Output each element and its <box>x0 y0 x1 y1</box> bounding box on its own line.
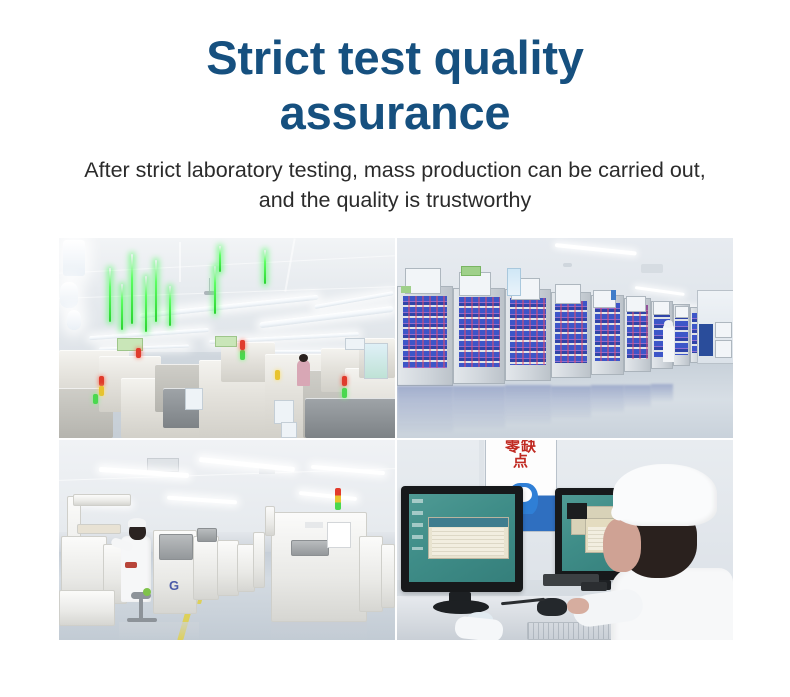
cabinet-label <box>461 266 481 276</box>
photo-inspection-station: 零缺点 <box>397 440 733 640</box>
monitor-left-screen <box>409 494 515 582</box>
laser-beam <box>155 260 157 322</box>
laser-beam <box>109 268 111 322</box>
blue-panel <box>699 324 713 356</box>
data-table-rows <box>432 528 504 555</box>
photo-battery-test-racks <box>397 238 733 438</box>
laser-beam <box>121 284 123 330</box>
laser-beam <box>214 266 216 314</box>
floor-reflection <box>119 622 199 640</box>
floor-reflection <box>651 384 673 401</box>
oven-window <box>291 540 329 556</box>
floor-reflection <box>397 386 453 432</box>
floor-reflection <box>624 385 651 407</box>
tray-connectors <box>459 297 500 367</box>
cabinet-display <box>675 306 689 318</box>
status-light-red <box>136 348 141 358</box>
ceiling-lamp <box>60 282 78 308</box>
machine-window <box>159 534 193 560</box>
cabinet-display <box>653 301 670 315</box>
status-light-yellow <box>99 386 104 396</box>
stool-lever <box>143 588 151 596</box>
tray-connectors <box>403 296 447 369</box>
desktop-icons <box>412 499 423 550</box>
floor-reflection <box>271 622 367 640</box>
photo-smt-line <box>59 238 395 438</box>
page-subtitle: After strict laboratory testing, mass pr… <box>65 155 725 216</box>
operator-arm <box>454 616 504 640</box>
machine <box>381 544 395 608</box>
tray-connectors <box>595 303 620 361</box>
floor-reflection <box>453 386 505 428</box>
laser-beam <box>264 250 266 284</box>
machine-post <box>265 506 275 536</box>
photo-cleanroom-operator: G <box>59 440 395 640</box>
ceiling-lamp <box>63 240 85 276</box>
stool-post <box>139 598 143 620</box>
operator-face <box>603 518 641 572</box>
line-sign <box>345 338 365 350</box>
heading-block: Strict test quality assurance After stri… <box>0 0 790 216</box>
machine-frame <box>73 494 131 506</box>
wall-poster <box>364 343 388 379</box>
doc-holder <box>185 388 203 410</box>
battery-test-cabinet <box>505 289 551 381</box>
screen-panel <box>567 503 586 520</box>
desk-item <box>581 582 607 591</box>
laser-beam <box>219 246 221 272</box>
machine <box>359 536 383 612</box>
status-light-green <box>240 350 245 360</box>
photo-gallery: G 零缺点 <box>59 238 732 640</box>
line-sign <box>215 336 237 347</box>
machine <box>253 532 265 588</box>
material-tray <box>77 524 121 534</box>
status-light-green <box>342 388 347 398</box>
doc-holder <box>281 422 297 438</box>
floor-reflection <box>591 385 624 412</box>
sprinkler-stem <box>209 278 210 292</box>
laser-beam <box>131 254 133 324</box>
ceiling-vent <box>641 264 663 273</box>
doc-holder <box>274 400 294 424</box>
tray-connectors <box>555 301 586 363</box>
status-light-red <box>99 376 104 386</box>
tray-connectors <box>510 298 546 365</box>
machine-monitor <box>197 528 217 542</box>
floor-reflection <box>505 385 551 423</box>
status-light-yellow <box>275 370 280 380</box>
status-light-red <box>240 340 245 350</box>
status-light-green <box>93 394 98 404</box>
battery-test-cabinet <box>453 288 505 384</box>
floor-reflection <box>551 386 591 418</box>
window-titlebar <box>429 518 508 527</box>
conveyor <box>305 398 395 438</box>
reflow-oven <box>271 512 367 622</box>
ceiling-seam <box>179 242 181 282</box>
status-light-red <box>342 376 347 386</box>
operator-hand <box>567 598 589 614</box>
cabinet-label <box>611 290 616 300</box>
machine <box>217 540 239 596</box>
laser-beam <box>145 276 147 332</box>
machine <box>193 536 219 600</box>
workstation-base <box>59 590 115 626</box>
wall-display <box>715 322 732 338</box>
operator-cap <box>128 518 146 527</box>
machine-label <box>327 522 351 548</box>
poster-text: 零缺点 <box>504 440 539 469</box>
cabinet-label <box>401 286 411 293</box>
battery-test-cabinet <box>551 292 591 378</box>
operator-badge <box>125 562 137 568</box>
operator <box>297 360 310 386</box>
technician-head <box>664 320 673 328</box>
technician <box>663 324 674 362</box>
machine-logo: G <box>169 578 179 593</box>
operator-head <box>299 354 308 362</box>
machine-detail <box>305 522 323 528</box>
wall-display <box>715 340 732 358</box>
andon-tower-light <box>335 488 341 510</box>
cabinet-display <box>626 296 646 312</box>
keyboard <box>527 622 623 640</box>
promo-banner: Strict test quality assurance After stri… <box>0 0 790 697</box>
cabinet-label <box>507 268 521 296</box>
tray-connectors <box>627 305 648 358</box>
cabinet-display <box>555 284 581 304</box>
sprinkler-head <box>563 263 572 267</box>
page-title: Strict test quality assurance <box>115 30 675 141</box>
laser-beam <box>169 286 171 326</box>
battery-test-cabinet <box>397 286 453 386</box>
ceiling-lamp <box>67 310 81 330</box>
app-window <box>428 517 509 559</box>
